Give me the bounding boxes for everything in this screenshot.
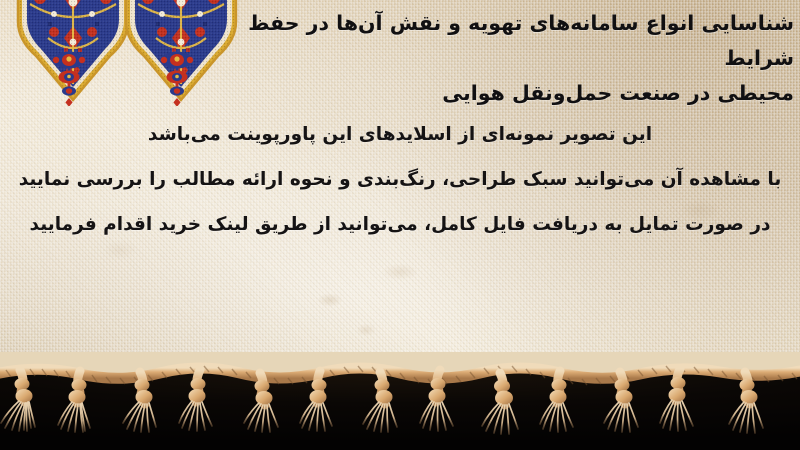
slide-title-line-2: محیطی در صنعت حمل‌ونقل هوایی xyxy=(228,76,794,111)
slide-body: این تصویر نمونه‌ای از اسلایدهای این پاور… xyxy=(6,112,794,247)
slide-body-line-2: با مشاهده آن می‌توانید سبک طراحی، رنگ‌بن… xyxy=(6,157,794,202)
slide-canvas: شناسایی انواع سامانه‌های تهویه و نقش آن‌… xyxy=(0,0,800,450)
carpet-dark-band xyxy=(0,372,800,450)
slide-text-layer: شناسایی انواع سامانه‌های تهویه و نقش آن‌… xyxy=(0,0,800,378)
slide-title: شناسایی انواع سامانه‌های تهویه و نقش آن‌… xyxy=(228,6,794,111)
slide-title-line-1: شناسایی انواع سامانه‌های تهویه و نقش آن‌… xyxy=(228,6,794,76)
slide-body-line-3: در صورت تمایل به دریافت فایل کامل، می‌تو… xyxy=(6,202,794,247)
slide-body-line-1: این تصویر نمونه‌ای از اسلایدهای این پاور… xyxy=(6,112,794,157)
